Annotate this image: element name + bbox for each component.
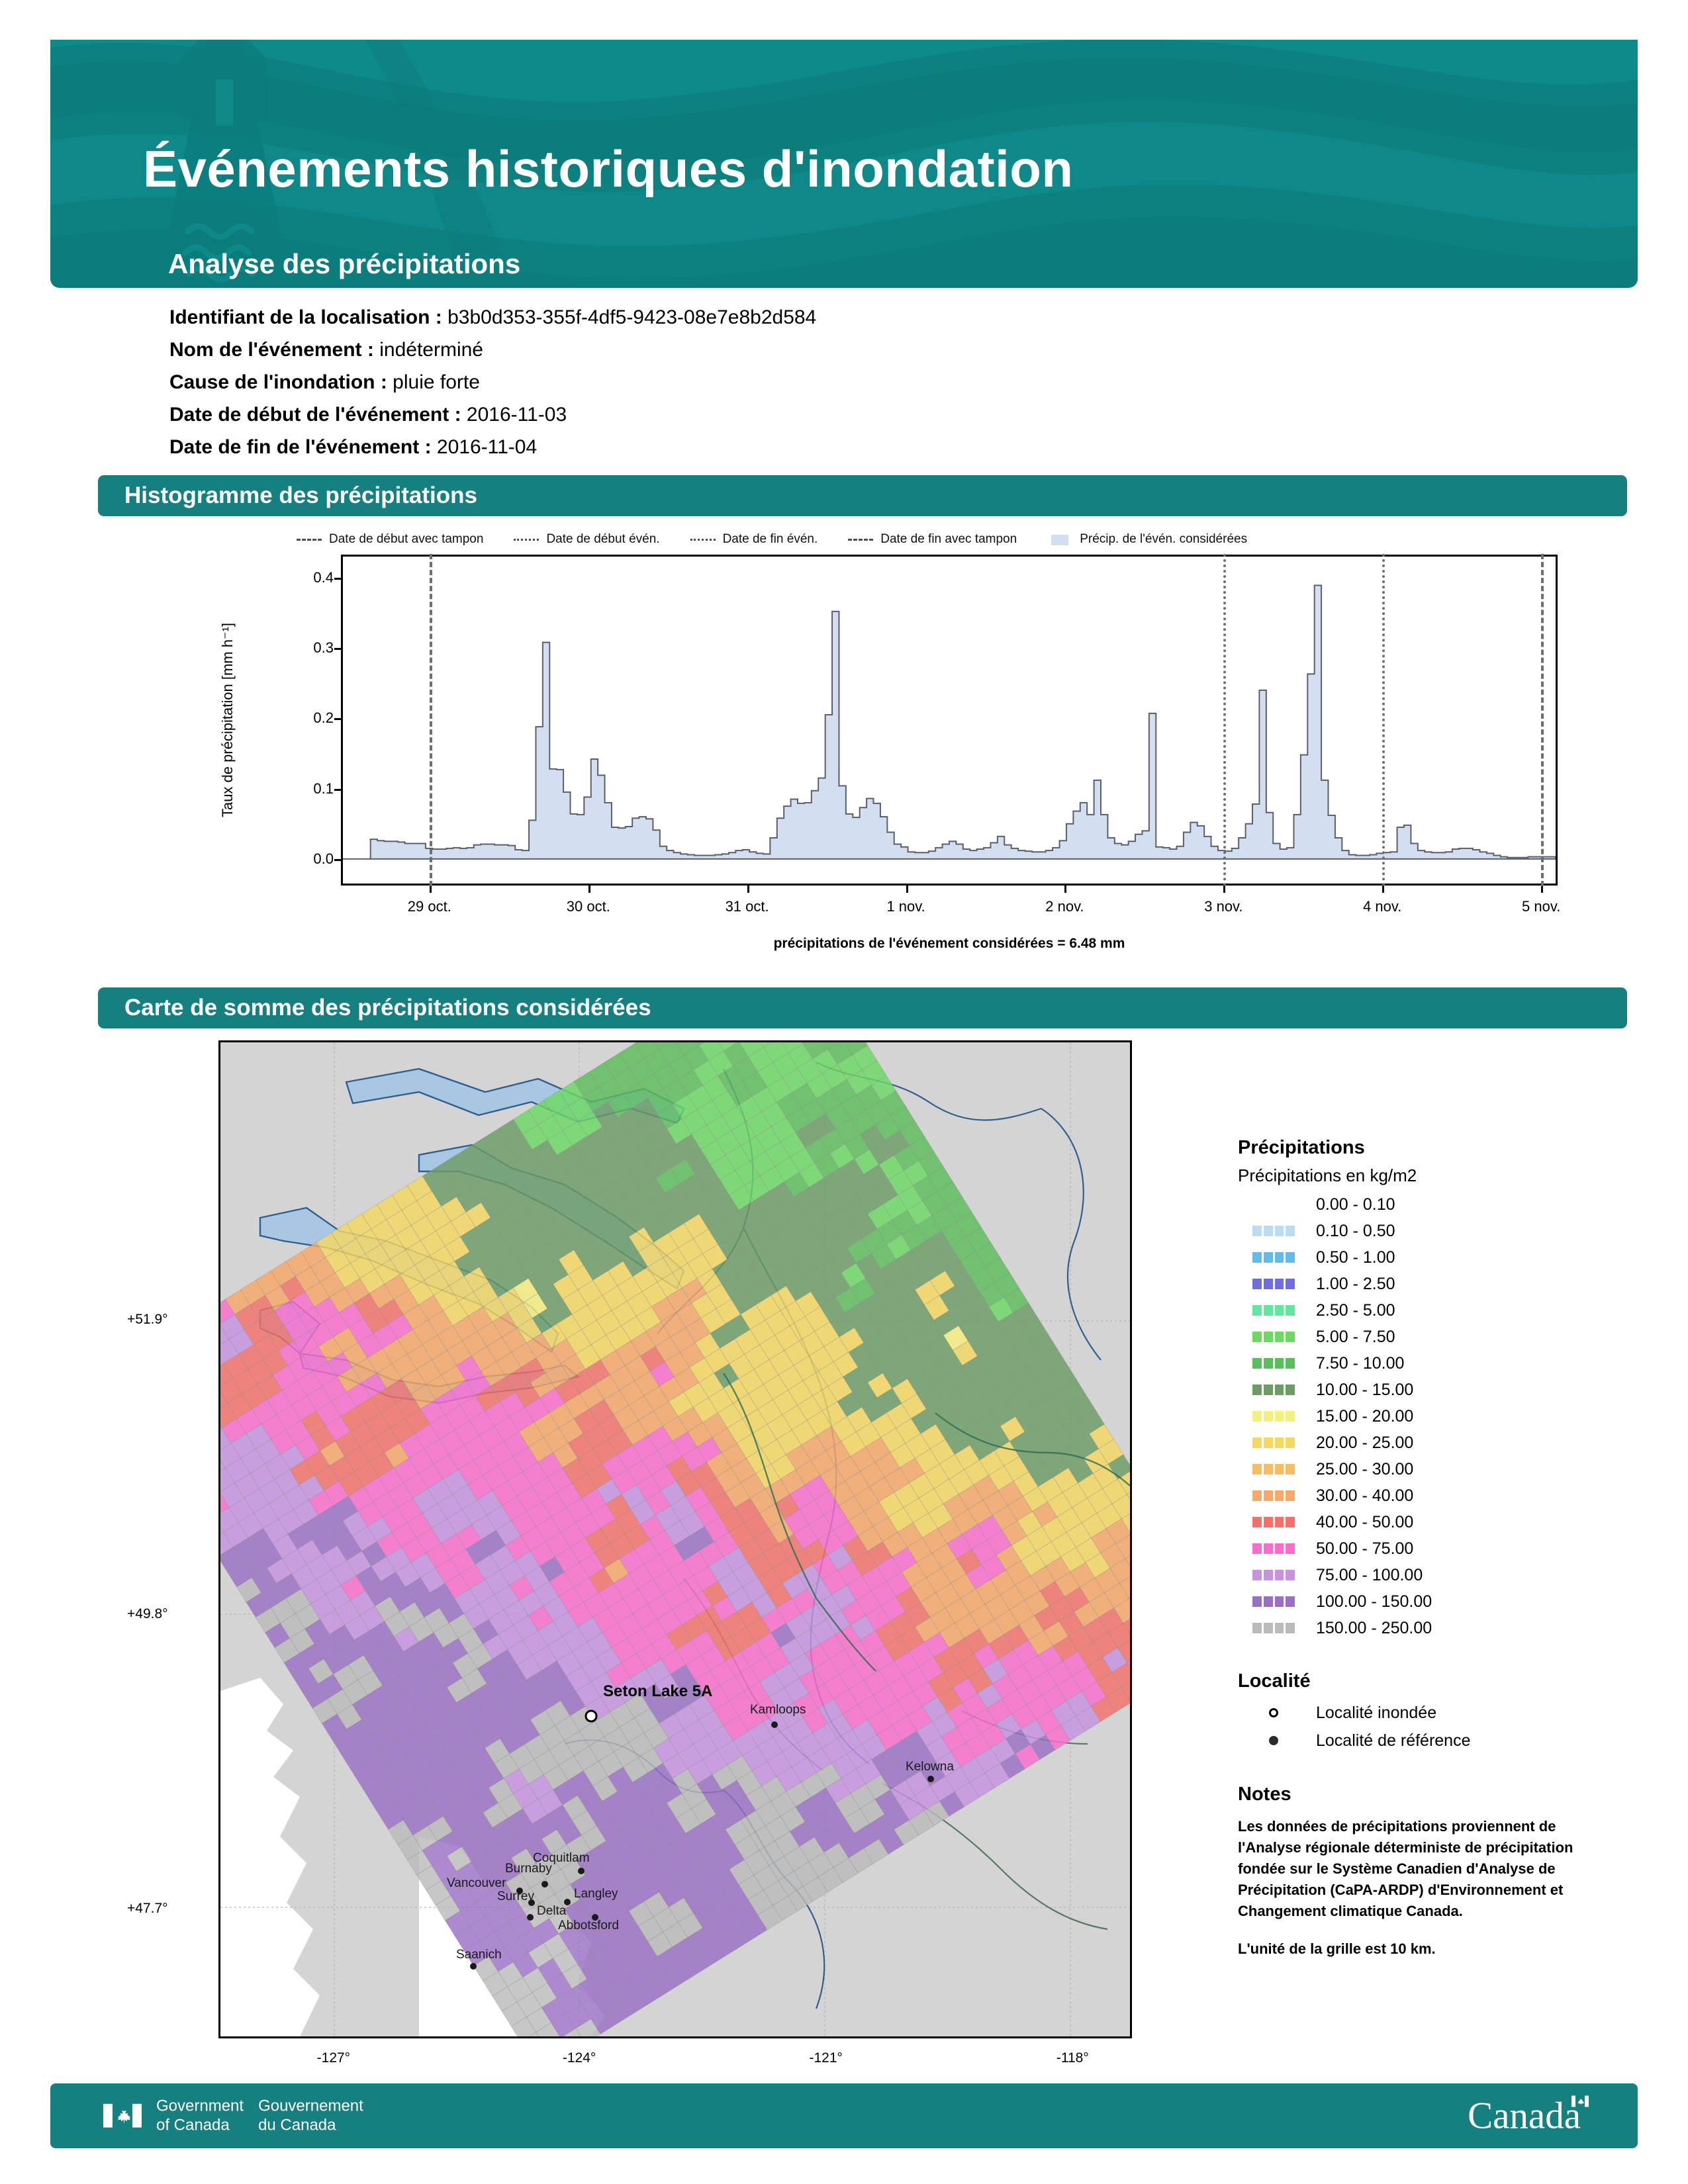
legend-locality-reference: Localité de référence [1238,1727,1609,1754]
legend-class-row: 2.50 - 5.00 [1238,1297,1609,1324]
meta-key: Date de fin de l'événement : [169,436,432,458]
footer-bar: Government of Canada Gouvernement du Can… [50,2083,1638,2148]
y-tick-label: 0.1 [313,780,334,797]
map-longitude-label: -127° [317,2050,350,2066]
header-banner: Événements historiques d'inondation Anal… [50,40,1638,288]
y-tick-mark [334,789,343,791]
svg-text:Langley: Langley [574,1887,618,1901]
histogram-legend-label: Date de début évén. [546,532,659,547]
canada-wordmark: Canada [1468,2095,1589,2138]
svg-text:Seton Lake 5A: Seton Lake 5A [603,1682,712,1700]
legend-color-swatch [1252,1490,1295,1501]
gov-en-line1: Government [156,2097,244,2115]
notes-paragraph-grid: L'unité de la grille est 10 km. [1238,1938,1582,1960]
x-tick-label: 30 oct. [567,898,610,915]
canada-wordmark-flag-icon [1571,2096,1589,2107]
report-page: Événements historiques d'inondation Anal… [0,0,1688,2184]
legend-class-row: 15.00 - 20.00 [1238,1403,1609,1430]
page-subtitle: Analyse des précipitations [168,248,520,280]
y-axis-label: Taux de précipitation [mm h⁻¹] [219,623,236,817]
map-longitude-label: -118° [1056,2050,1089,2066]
legend-color-swatch [1252,1226,1295,1236]
histogram-legend-label: Précip. de l'évén. considérées [1080,532,1247,547]
legend-class-label: 2.50 - 5.00 [1316,1301,1395,1320]
legend-color-swatch [1252,1252,1295,1263]
y-tick-label: 0.4 [313,569,334,586]
map-latitude-label: +47.7° [127,1901,168,1917]
meta-key: Identifiant de la localisation : [169,306,442,328]
legend-class-row: 75.00 - 100.00 [1238,1562,1609,1588]
event-metadata: Identifiant de la localisation : b3b0d35… [169,301,1493,463]
y-tick-mark [334,718,343,720]
legend-class-label: 20.00 - 25.00 [1316,1433,1413,1453]
histogram-series [343,557,1556,884]
legend-color-swatch [1252,1332,1295,1342]
legend-class-label: 10.00 - 15.00 [1316,1381,1413,1400]
x-tick-label: 31 oct. [726,898,769,915]
histogram-legend-item: Date de début évén. [514,532,659,547]
histogram-legend-label: Date de début avec tampon [329,532,483,547]
legend-color-swatch [1252,1517,1295,1527]
map-latitude-label: +51.9° [127,1312,168,1328]
legend-color-swatch [1252,1279,1295,1289]
histogram-subtitle: précipitations de l'événement considérée… [774,936,1125,952]
legend-color-swatch [1252,1199,1295,1210]
legend-color-swatch [1252,1358,1295,1369]
legend-class-row: 0.50 - 1.00 [1238,1244,1609,1271]
y-tick-label: 0.3 [313,639,334,657]
legend-color-swatch [1252,1623,1295,1633]
legend-color-swatch [1252,1570,1295,1580]
x-tick-mark [588,884,590,893]
x-tick-label: 4 nov. [1363,898,1401,915]
legend-class-row: 30.00 - 40.00 [1238,1482,1609,1509]
meta-value: 2016-11-03 [467,404,567,426]
legend-title-locality: Localité [1238,1670,1609,1692]
meta-key: Cause de l'inondation : [169,371,387,393]
canada-wordmark-text: Canada [1468,2095,1581,2138]
meta-row-start-date: Date de début de l'événement : 2016-11-0… [169,398,1493,431]
meta-key: Date de début de l'événement : [169,404,461,426]
x-tick-label: 3 nov. [1204,898,1243,915]
canada-flag-icon [103,2104,142,2128]
map-longitude-label: -124° [563,2050,596,2066]
x-tick-label: 1 nov. [886,898,925,915]
gov-en-line2: of Canada [156,2116,230,2134]
meta-key: Nom de l'événement : [169,339,374,361]
notes-paragraph-source: Les données de précipitations proviennen… [1238,1816,1582,1921]
legend-class-label: 50.00 - 75.00 [1316,1539,1413,1559]
histogram-legend-label: Date de fin avec tampon [880,532,1017,547]
x-tick-label: 29 oct. [408,898,451,915]
legend-locality-reference-label: Localité de référence [1316,1731,1470,1751]
meta-value: indéterminé [379,339,483,361]
gov-fr-line1: Gouvernement [258,2097,363,2115]
map-legend-panel: Précipitations Précipitations en kg/m2 0… [1238,1137,1609,1977]
histogram-plot-area: 0.00.10.20.30.429 oct.30 oct.31 oct.1 no… [341,555,1558,886]
legend-class-row: 40.00 - 50.00 [1238,1509,1609,1535]
legend-class-label: 0.00 - 0.10 [1316,1195,1395,1214]
legend-class-row: 0.10 - 0.50 [1238,1218,1609,1244]
section-header-histogram: Histogramme des précipitations [98,475,1627,516]
legend-class-row: 0.00 - 0.10 [1238,1191,1609,1218]
section-header-map-label: Carte de somme des précipitations consid… [124,995,651,1021]
y-tick-mark [334,648,343,650]
meta-value: pluie forte [393,371,480,393]
legend-class-label: 40.00 - 50.00 [1316,1513,1413,1532]
legend-class-row: 50.00 - 75.00 [1238,1535,1609,1562]
legend-locality-flooded: Localité inondée [1238,1699,1609,1727]
gov-fr-line2: du Canada [258,2116,336,2134]
legend-color-swatch [1252,1411,1295,1422]
svg-text:Abbotsford: Abbotsford [558,1919,619,1933]
map-canvas: Seton Lake 5A Kamloops Kelowna Coquitlam… [220,1042,1130,2036]
meta-row-end-date: Date de fin de l'événement : 2016-11-04 [169,431,1493,463]
legend-class-row: 150.00 - 250.00 [1238,1615,1609,1641]
legend-class-label: 150.00 - 250.00 [1316,1619,1432,1638]
svg-text:Kamloops: Kamloops [750,1703,806,1717]
legend-swatch-icon [1047,535,1072,544]
event-marker-line [1382,554,1385,886]
legend-class-label: 30.00 - 40.00 [1316,1486,1413,1506]
legend-class-label: 0.50 - 1.00 [1316,1248,1395,1267]
event-marker-line [1541,554,1544,886]
x-tick-mark [906,884,908,893]
y-tick-mark [334,859,343,861]
legend-spacer-2 [1238,1754,1609,1784]
precipitation-histogram: Date de début avec tamponDate de début é… [98,523,1627,979]
histogram-legend-item: Date de fin avec tampon [848,532,1017,547]
histogram-legend-label: Date de fin évén. [723,532,818,547]
legend-color-swatch [1252,1385,1295,1395]
section-header-histogram-label: Histogramme des précipitations [124,482,477,509]
histogram-legend-item: Date de fin évén. [690,532,818,547]
map-longitude-label: -121° [809,2050,842,2066]
histogram-legend-item: Précip. de l'évén. considérées [1047,532,1247,547]
legend-class-row: 1.00 - 2.50 [1238,1271,1609,1297]
legend-line-icon [690,535,716,544]
svg-text:Burnaby: Burnaby [505,1862,552,1876]
section-header-map: Carte de somme des précipitations consid… [98,987,1627,1028]
meta-row-flood-cause: Cause de l'inondation : pluie forte [169,366,1493,398]
svg-text:Surrey: Surrey [497,1889,534,1903]
legend-class-label: 15.00 - 20.00 [1316,1407,1413,1426]
legend-locality-flooded-label: Localité inondée [1316,1704,1436,1723]
x-tick-label: 2 nov. [1045,898,1084,915]
legend-class-label: 5.00 - 7.50 [1316,1328,1395,1347]
event-marker-line [1223,554,1226,886]
meta-value: 2016-11-04 [437,436,537,458]
y-tick-label: 0.0 [313,850,334,868]
legend-class-row: 20.00 - 25.00 [1238,1430,1609,1456]
legend-color-swatch [1252,1437,1295,1448]
legend-class-label: 7.50 - 10.00 [1316,1354,1404,1373]
svg-text:Saanich: Saanich [456,1948,502,1962]
legend-class-row: 10.00 - 15.00 [1238,1377,1609,1403]
legend-class-label: 100.00 - 150.00 [1316,1592,1432,1612]
svg-text:Kelowna: Kelowna [906,1760,954,1774]
meta-value: b3b0d353-355f-4df5-9423-08e7e8b2d584 [447,306,816,328]
legend-color-swatch [1252,1543,1295,1554]
x-tick-mark [1064,884,1066,893]
legend-class-row: 25.00 - 30.00 [1238,1456,1609,1482]
legend-class-label: 1.00 - 2.50 [1316,1275,1395,1294]
filled-circle-icon [1252,1736,1295,1745]
legend-line-icon [297,535,322,544]
legend-line-icon [848,535,873,544]
legend-class-label: 0.10 - 0.50 [1316,1222,1395,1241]
legend-class-row: 5.00 - 7.50 [1238,1324,1609,1350]
legend-class-row: 100.00 - 150.00 [1238,1588,1609,1615]
y-tick-mark [334,578,343,580]
x-tick-mark [747,884,749,893]
legend-title-precipitation: Précipitations [1238,1137,1609,1159]
legend-class-label: 25.00 - 30.00 [1316,1460,1413,1479]
meta-row-location-id: Identifiant de la localisation : b3b0d35… [169,301,1493,334]
open-circle-icon [1252,1708,1295,1717]
government-of-canada-signature: Government of Canada Gouvernement du Can… [103,2097,363,2136]
histogram-legend-item: Date de début avec tampon [297,532,483,547]
map-latitude-label: +49.8° [127,1606,168,1622]
y-tick-label: 0.2 [313,709,334,727]
legend-color-swatch [1252,1596,1295,1607]
legend-class-list: 0.00 - 0.100.10 - 0.500.50 - 1.001.00 - … [1238,1191,1609,1641]
legend-line-icon [514,535,539,544]
legend-class-label: 75.00 - 100.00 [1316,1566,1423,1585]
histogram-legend: Date de début avec tamponDate de début é… [297,528,1554,551]
svg-text:Vancouver: Vancouver [447,1876,506,1890]
page-title: Événements historiques d'inondation [143,139,1074,199]
legend-class-row: 7.50 - 10.00 [1238,1350,1609,1377]
svg-text:Delta: Delta [537,1904,567,1918]
notes-title: Notes [1238,1784,1609,1805]
precipitation-map[interactable]: Seton Lake 5A Kamloops Kelowna Coquitlam… [218,1040,1132,2038]
legend-color-swatch [1252,1305,1295,1316]
event-marker-line [430,554,432,886]
x-tick-label: 5 nov. [1522,898,1560,915]
meta-row-event-name: Nom de l'événement : indéterminé [169,334,1493,366]
legend-spacer [1238,1641,1609,1670]
legend-color-swatch [1252,1464,1295,1475]
legend-subtitle-units: Précipitations en kg/m2 [1238,1165,1609,1186]
